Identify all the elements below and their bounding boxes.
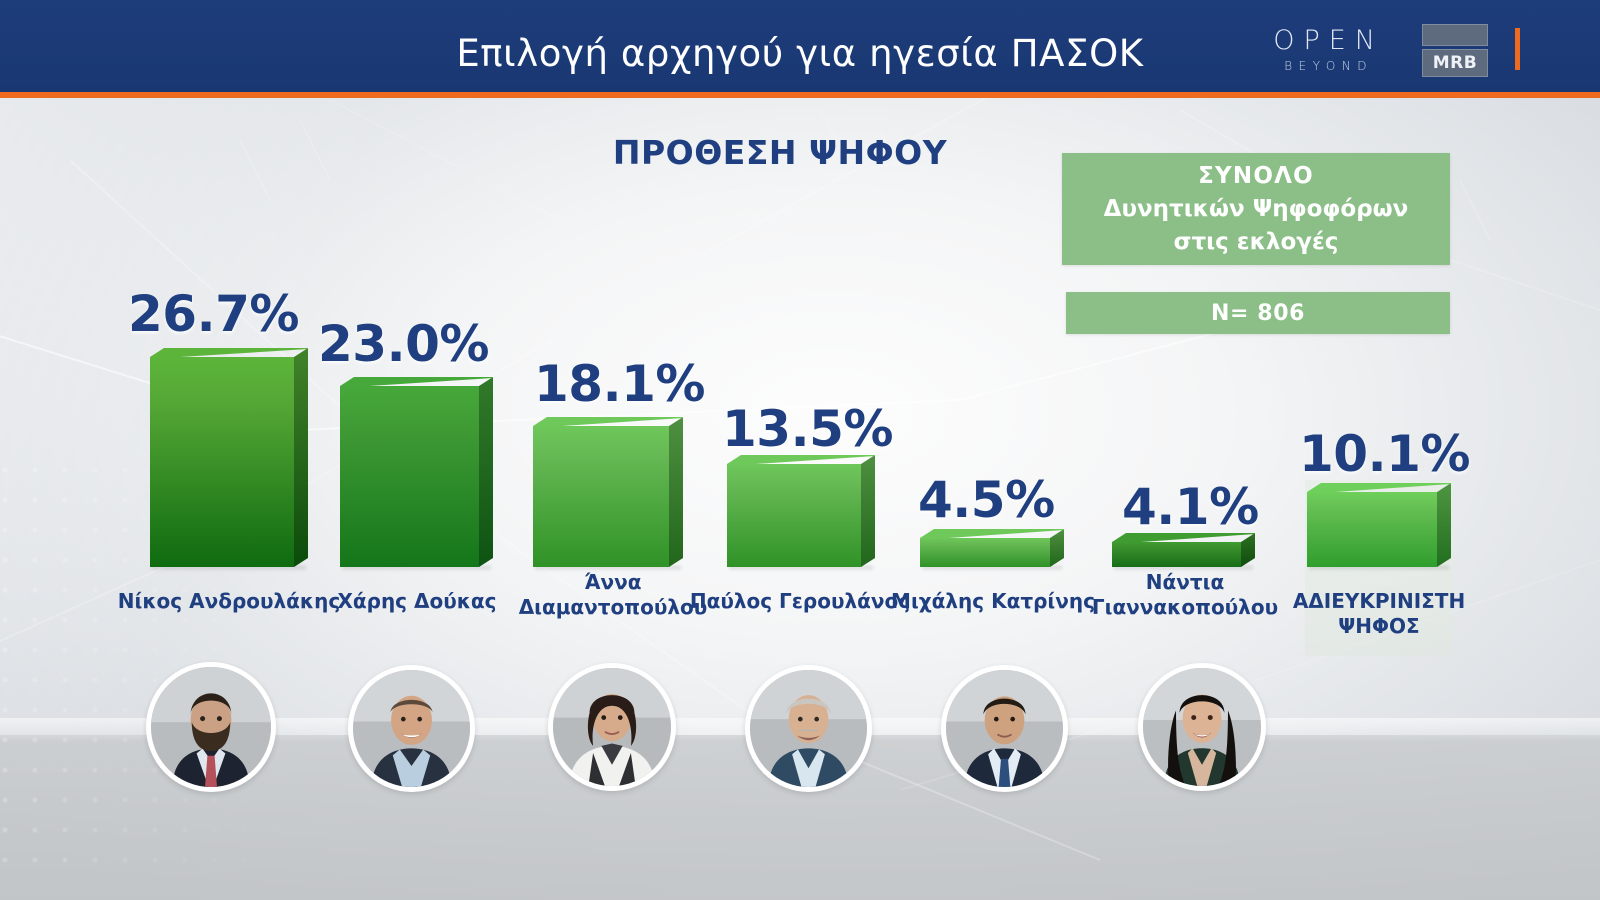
bar-3-side-face: [861, 455, 875, 567]
bar-0-avatar: [146, 662, 276, 792]
bar-3: [727, 455, 875, 567]
bar-1-avatar: [348, 665, 475, 792]
poll-graphic: Επιλογή αρχηγού για ηγεσία ΠΑΣΟΚ OPEN BE…: [0, 0, 1600, 900]
bar-1-value: 23.0%: [318, 315, 489, 373]
bar-6-label: ΑΔΙΕΥΚΡΙΝΙΣΤΗ ΨΗΦΟΣ: [1259, 589, 1499, 639]
bar-1: [340, 377, 493, 567]
bar-6-label-line2: ΨΗΦΟΣ: [1259, 614, 1499, 639]
bar-6-front-face: [1307, 492, 1437, 567]
bar-4: [920, 529, 1064, 567]
bar-6: [1307, 483, 1451, 567]
bar-5-avatar: [1138, 663, 1266, 791]
bar-3-avatar: [745, 665, 872, 792]
bar-chart: 26.7% Νίκος Ανδρουλάκης: [0, 0, 1600, 900]
bar-5-side-face: [1241, 533, 1255, 567]
bar-6-side-face: [1437, 483, 1451, 567]
bar-0-side-face: [294, 348, 308, 567]
bar-2-value: 18.1%: [534, 355, 705, 413]
bar-2-front-face: [533, 426, 669, 567]
bar-6-value: 10.1%: [1299, 425, 1470, 483]
bar-1-front-face: [340, 386, 479, 567]
bar-5-front-face: [1112, 542, 1241, 567]
bar-2: [533, 417, 683, 567]
bar-1-side-face: [479, 377, 493, 567]
bar-0: [150, 348, 308, 567]
bar-4-side-face: [1050, 529, 1064, 567]
bar-0-front-face: [150, 357, 294, 567]
bar-5-value: 4.1%: [1122, 478, 1259, 536]
bar-2-side-face: [669, 417, 683, 567]
bar-4-value: 4.5%: [918, 471, 1055, 529]
bar-4-front-face: [920, 538, 1050, 567]
bar-0-value: 26.7%: [128, 285, 299, 343]
bar-2-avatar: [548, 663, 676, 791]
bar-3-front-face: [727, 464, 861, 567]
bar-5: [1112, 533, 1255, 567]
bar-4-avatar: [941, 665, 1068, 792]
bar-6-label-line1: ΑΔΙΕΥΚΡΙΝΙΣΤΗ: [1259, 589, 1499, 614]
bar-3-value: 13.5%: [722, 400, 893, 458]
